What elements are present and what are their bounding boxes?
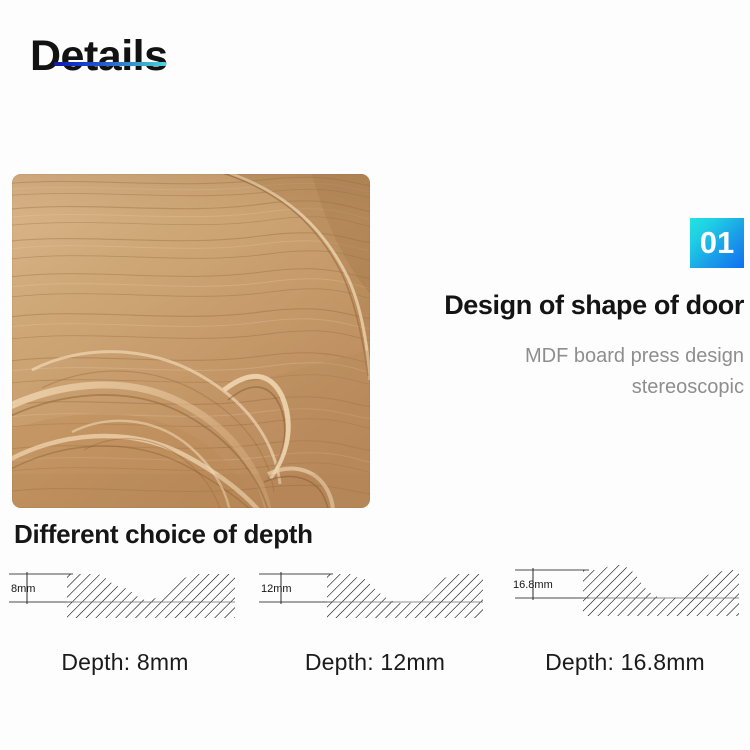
feature-description: MDF board press design stereoscopic: [394, 341, 744, 403]
depth-caption-16-8mm: Depth: 16.8mm: [545, 649, 705, 676]
wood-panel-photo: [12, 174, 370, 508]
badge-row: 01: [394, 218, 744, 268]
depth-option-16-8mm: 16.8mm Depth: 16.8mm: [500, 562, 750, 676]
depth-options-row: 8mm Depth: 8mm: [0, 562, 750, 676]
feature-description-line1: MDF board press design: [394, 341, 744, 372]
feature-title: Design of shape of door: [394, 290, 744, 321]
page-title: Details: [30, 34, 430, 79]
details-page: Details: [0, 0, 750, 750]
depth-option-8mm: 8mm Depth: 8mm: [0, 562, 250, 676]
depth-caption-8mm: Depth: 8mm: [61, 649, 188, 676]
depth-profile-diagram-12mm: 12mm: [253, 562, 498, 632]
depth-section-heading: Different choice of depth: [14, 519, 313, 550]
feature-description-line2: stereoscopic: [394, 372, 744, 403]
depth-profile-diagram-8mm: 8mm: [3, 562, 248, 632]
dimension-label-12mm: 12mm: [261, 583, 292, 595]
feature-block: 01 Design of shape of door MDF board pre…: [394, 218, 744, 403]
title-underline-accent: [54, 62, 166, 66]
page-header: Details: [30, 34, 430, 79]
depth-profile-diagram-16-8mm: 16.8mm: [503, 562, 748, 632]
dimension-label-8mm: 8mm: [11, 583, 35, 595]
step-number-badge: 01: [690, 218, 744, 268]
wood-grain-illustration: [12, 174, 370, 508]
dimension-label-16-8mm: 16.8mm: [513, 579, 553, 591]
depth-option-12mm: 12mm Depth: 12mm: [250, 562, 500, 676]
depth-caption-12mm: Depth: 12mm: [305, 649, 445, 676]
